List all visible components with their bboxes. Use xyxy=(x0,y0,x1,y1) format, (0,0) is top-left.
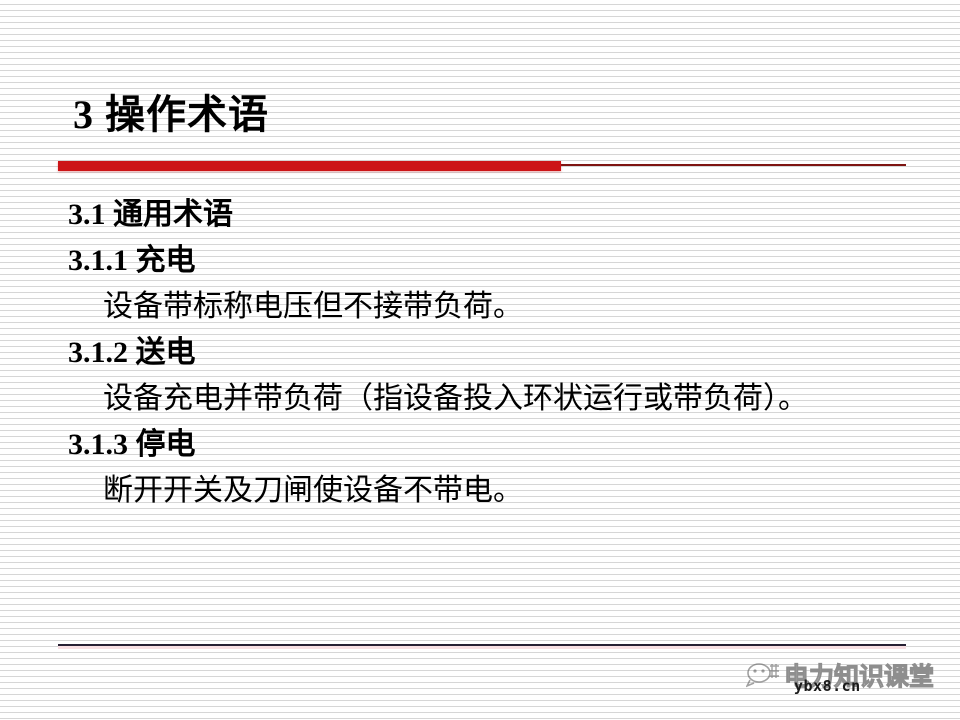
wechat-bubble-icon xyxy=(746,659,780,689)
body-line-heading-3-1-1: 3.1.1 充电 xyxy=(68,238,928,284)
body-line-heading-3-1: 3.1 通用术语 xyxy=(68,192,928,238)
body-line-heading-3-1-3: 3.1.3 停电 xyxy=(68,422,928,468)
body-line-detail-3-1-1: 设备带标称电压但不接带负荷。 xyxy=(103,284,928,330)
body-line-detail-3-1-3: 断开开关及刀闸使设备不带电。 xyxy=(103,468,928,514)
slide-canvas: 3 操作术语 3.1 通用术语 3.1.1 充电 设备带标称电压但不接带负荷。 … xyxy=(0,0,960,720)
body-line-heading-3-1-2: 3.1.2 送电 xyxy=(68,330,928,376)
title-divider xyxy=(58,160,906,174)
watermark-url: ybx8.cn xyxy=(794,677,861,695)
body-content: 3.1 通用术语 3.1.1 充电 设备带标称电压但不接带负荷。 3.1.2 送… xyxy=(68,192,928,514)
footer-divider-glow xyxy=(58,646,906,649)
footer-divider xyxy=(58,644,906,650)
title-divider-accent-bar xyxy=(58,161,561,171)
body-line-detail-3-1-2: 设备充电并带负荷（指设备投入环状运行或带负荷）。 xyxy=(103,376,928,422)
page-title: 3 操作术语 xyxy=(73,93,269,137)
watermark: 电力知识课堂 ybx8.cn xyxy=(742,655,956,707)
